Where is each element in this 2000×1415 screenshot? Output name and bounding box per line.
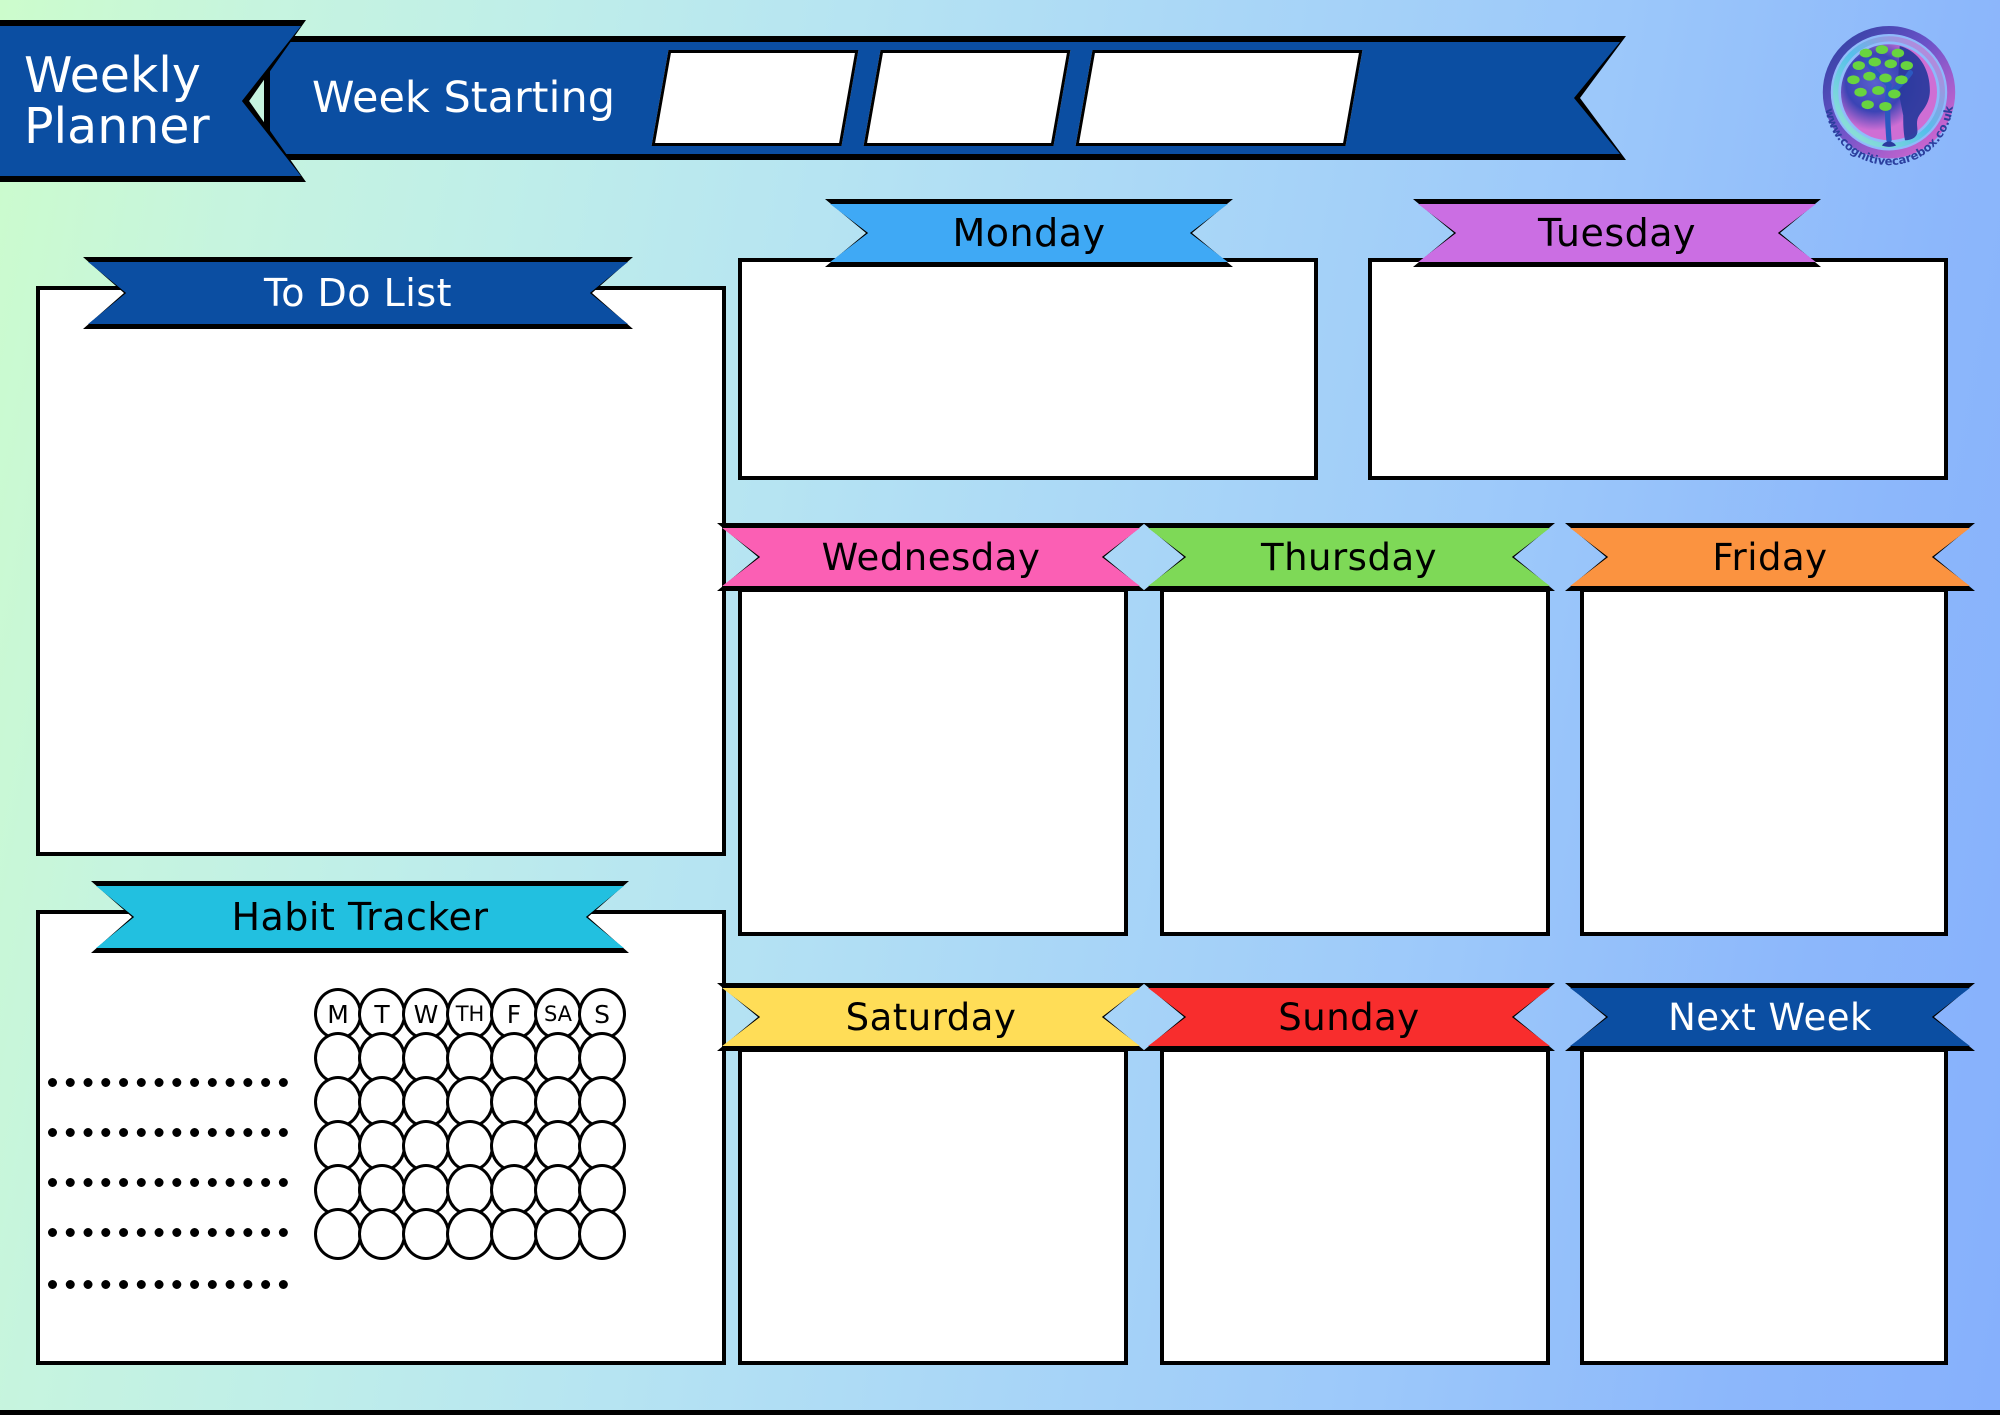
day-label-thursday: Thursday	[1261, 536, 1437, 579]
day-box-next-week[interactable]	[1580, 1048, 1948, 1365]
day-label-monday: Monday	[952, 211, 1105, 255]
page-title-line1: Weekly	[24, 50, 246, 101]
day-label-saturday: Saturday	[846, 996, 1017, 1039]
date-field-year[interactable]	[1076, 50, 1363, 146]
day-box-tuesday[interactable]	[1368, 258, 1948, 480]
week-starting-banner: Week Starting	[270, 42, 1620, 154]
day-box-friday[interactable]	[1580, 588, 1948, 936]
day-banner-sunday: Sunday	[1148, 988, 1550, 1046]
day-label-tuesday: Tuesday	[1538, 211, 1696, 255]
day-banner-friday: Friday	[1570, 528, 1970, 586]
day-label-next-week: Next Week	[1668, 996, 1872, 1039]
friday-banner-shape: Friday	[1570, 528, 1970, 586]
todo-list-box[interactable]	[36, 286, 726, 856]
habit-line-4[interactable]	[48, 1228, 288, 1237]
habit-banner-shape: Habit Tracker	[96, 886, 624, 948]
day-banner-monday: Monday	[830, 204, 1228, 262]
day-box-sunday[interactable]	[1160, 1048, 1550, 1365]
habit-cell[interactable]	[358, 1208, 406, 1260]
page-title-banner: Weekly Planner	[0, 20, 306, 182]
day-box-saturday[interactable]	[738, 1048, 1128, 1365]
habit-tracker-grid[interactable]: MTWTHFSAS	[314, 988, 622, 1252]
week-starting-label: Week Starting	[312, 73, 615, 123]
day-label-wednesday: Wednesday	[822, 536, 1041, 579]
sunday-banner-shape: Sunday	[1148, 988, 1550, 1046]
habit-cell[interactable]	[446, 1208, 494, 1260]
habit-cell[interactable]	[402, 1208, 450, 1260]
page-title: Weekly Planner	[0, 20, 306, 182]
saturday-banner-shape: Saturday	[722, 988, 1140, 1046]
day-label-friday: Friday	[1712, 536, 1827, 579]
day-box-wednesday[interactable]	[738, 588, 1128, 936]
habit-tracker-label: Habit Tracker	[231, 895, 488, 939]
cognitive-carebox-logo: www.cognitivecarebox.co.uk	[1800, 14, 1978, 174]
next-week-banner-shape: Next Week	[1570, 988, 1970, 1046]
tuesday-banner-shape: Tuesday	[1418, 204, 1816, 262]
habit-cell[interactable]	[314, 1208, 362, 1260]
habit-cell[interactable]	[490, 1208, 538, 1260]
day-banner-saturday: Saturday	[722, 988, 1140, 1046]
wednesday-banner-shape: Wednesday	[722, 528, 1140, 586]
thursday-banner-shape: Thursday	[1148, 528, 1550, 586]
todo-banner-shape: To Do List	[88, 262, 628, 324]
day-banner-tuesday: Tuesday	[1418, 204, 1816, 262]
todo-list-label: To Do List	[264, 271, 452, 315]
habit-cell[interactable]	[534, 1208, 582, 1260]
day-label-sunday: Sunday	[1278, 996, 1419, 1039]
day-banner-next-week: Next Week	[1570, 988, 1970, 1046]
habit-tracker-banner: Habit Tracker	[96, 886, 624, 948]
day-box-thursday[interactable]	[1160, 588, 1550, 936]
habit-cell[interactable]	[578, 1208, 626, 1260]
habit-line-5[interactable]	[48, 1280, 288, 1289]
page-title-line2: Planner	[24, 101, 246, 152]
monday-banner-shape: Monday	[830, 204, 1228, 262]
date-field-day[interactable]	[652, 50, 859, 146]
date-field-month[interactable]	[864, 50, 1071, 146]
day-banner-wednesday: Wednesday	[722, 528, 1140, 586]
day-box-monday[interactable]	[738, 258, 1318, 480]
habit-line-3[interactable]	[48, 1178, 288, 1187]
habit-line-2[interactable]	[48, 1128, 288, 1137]
day-banner-thursday: Thursday	[1148, 528, 1550, 586]
weekly-planner-page: Weekly Planner Week Starting	[0, 0, 2000, 1415]
habit-line-1[interactable]	[48, 1078, 288, 1087]
todo-list-banner: To Do List	[88, 262, 628, 324]
